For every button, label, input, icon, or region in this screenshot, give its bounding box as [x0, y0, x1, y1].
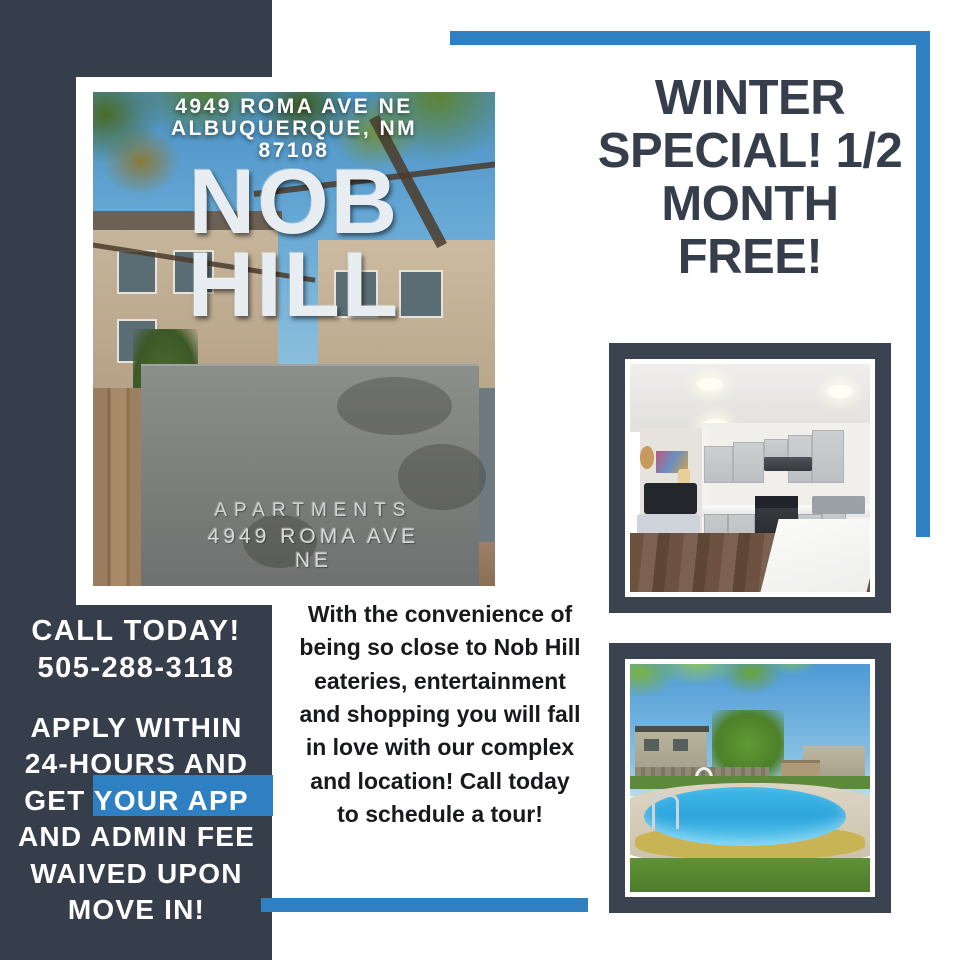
blue-accent-bar-horizontal: [450, 31, 930, 45]
pool-photo-card: [609, 643, 891, 913]
tree-canopy: [630, 664, 817, 723]
call-today-block: CALL TODAY! 505-288-3118: [0, 613, 272, 687]
monument-engraving-address: 4949 ROMA AVE NE: [195, 525, 431, 573]
headline-line-4: FREE!: [590, 231, 910, 284]
apply-line-2: 24-HOURS AND: [0, 746, 273, 782]
headline-line-3: MONTH: [590, 178, 910, 231]
address-line-3: 87108: [103, 140, 485, 162]
address-overlay: 4949 ROMA AVE NE ALBUQUERQUE, NM 87108: [93, 96, 495, 162]
sign-photo: APARTMENTS 4949 ROMA AVE NE NOB HILL 494…: [93, 92, 495, 586]
address-line-1: 4949 ROMA AVE NE: [175, 95, 413, 118]
building-roofline: [635, 726, 709, 733]
nob-hill-sign-letters: NOB HILL: [157, 161, 430, 327]
kitchen-photo-card: [609, 343, 891, 613]
recessed-light-icon: [827, 385, 853, 398]
monument-engraving-apartments: APARTMENTS: [195, 500, 431, 522]
building-window: [644, 739, 658, 750]
headline-line-2: SPECIAL! 1/2: [590, 125, 910, 178]
phone-number[interactable]: 505-288-3118: [0, 650, 272, 687]
leaf-shadow: [337, 377, 452, 435]
apply-within-block: APPLY WITHIN 24-HOURS AND GET YOUR APP A…: [0, 710, 273, 928]
upper-cabinet: [704, 446, 733, 482]
pool-photo: [630, 664, 870, 892]
headline-line-1: WINTER: [590, 72, 910, 125]
sink-icon: [812, 496, 865, 514]
kitchen-photo-inner-border: [625, 359, 875, 597]
pool-ladder: [652, 794, 680, 829]
apply-line-4: AND ADMIN FEE: [0, 819, 273, 855]
call-today-label: CALL TODAY!: [0, 613, 272, 650]
front-lawn: [630, 858, 870, 892]
apply-line-3: GET YOUR APP: [0, 783, 273, 819]
apply-line-1: APPLY WITHIN: [0, 710, 273, 746]
ceiling: [630, 364, 870, 432]
pool-photo-inner-border: [625, 659, 875, 897]
upper-cabinet: [812, 430, 843, 482]
sign-letter-line-1: NOB: [157, 161, 430, 244]
apply-line-6: MOVE IN!: [0, 892, 273, 928]
kitchen-photo: [630, 364, 870, 592]
upper-cabinet: [733, 442, 764, 483]
wall-art-circle: [640, 446, 654, 469]
headline-winter-special: WINTER SPECIAL! 1/2 MONTH FREE!: [590, 72, 910, 284]
kitchen-island-counter: [760, 519, 870, 592]
apply-line-5: WAIVED UPON: [0, 856, 273, 892]
body-paragraph: With the convenience of being so close t…: [298, 598, 582, 831]
sofa: [644, 483, 697, 515]
stove-control-panel: [755, 496, 798, 508]
monument-sign-block: APARTMENTS 4949 ROMA AVE NE: [141, 364, 479, 586]
flyer-canvas: APARTMENTS 4949 ROMA AVE NE NOB HILL 494…: [0, 0, 960, 960]
sign-letter-line-2: HILL: [157, 244, 430, 327]
range-hood: [764, 457, 812, 471]
sign-photo-frame: APARTMENTS 4949 ROMA AVE NE NOB HILL 494…: [76, 77, 512, 605]
wooden-fence: [93, 388, 145, 586]
building-window: [673, 739, 687, 750]
address-line-2: ALBUQUERQUE, NM: [103, 118, 485, 140]
recessed-light-icon: [697, 378, 723, 391]
blue-accent-bar-bottom: [261, 898, 588, 912]
blue-accent-bar-vertical: [916, 31, 930, 537]
